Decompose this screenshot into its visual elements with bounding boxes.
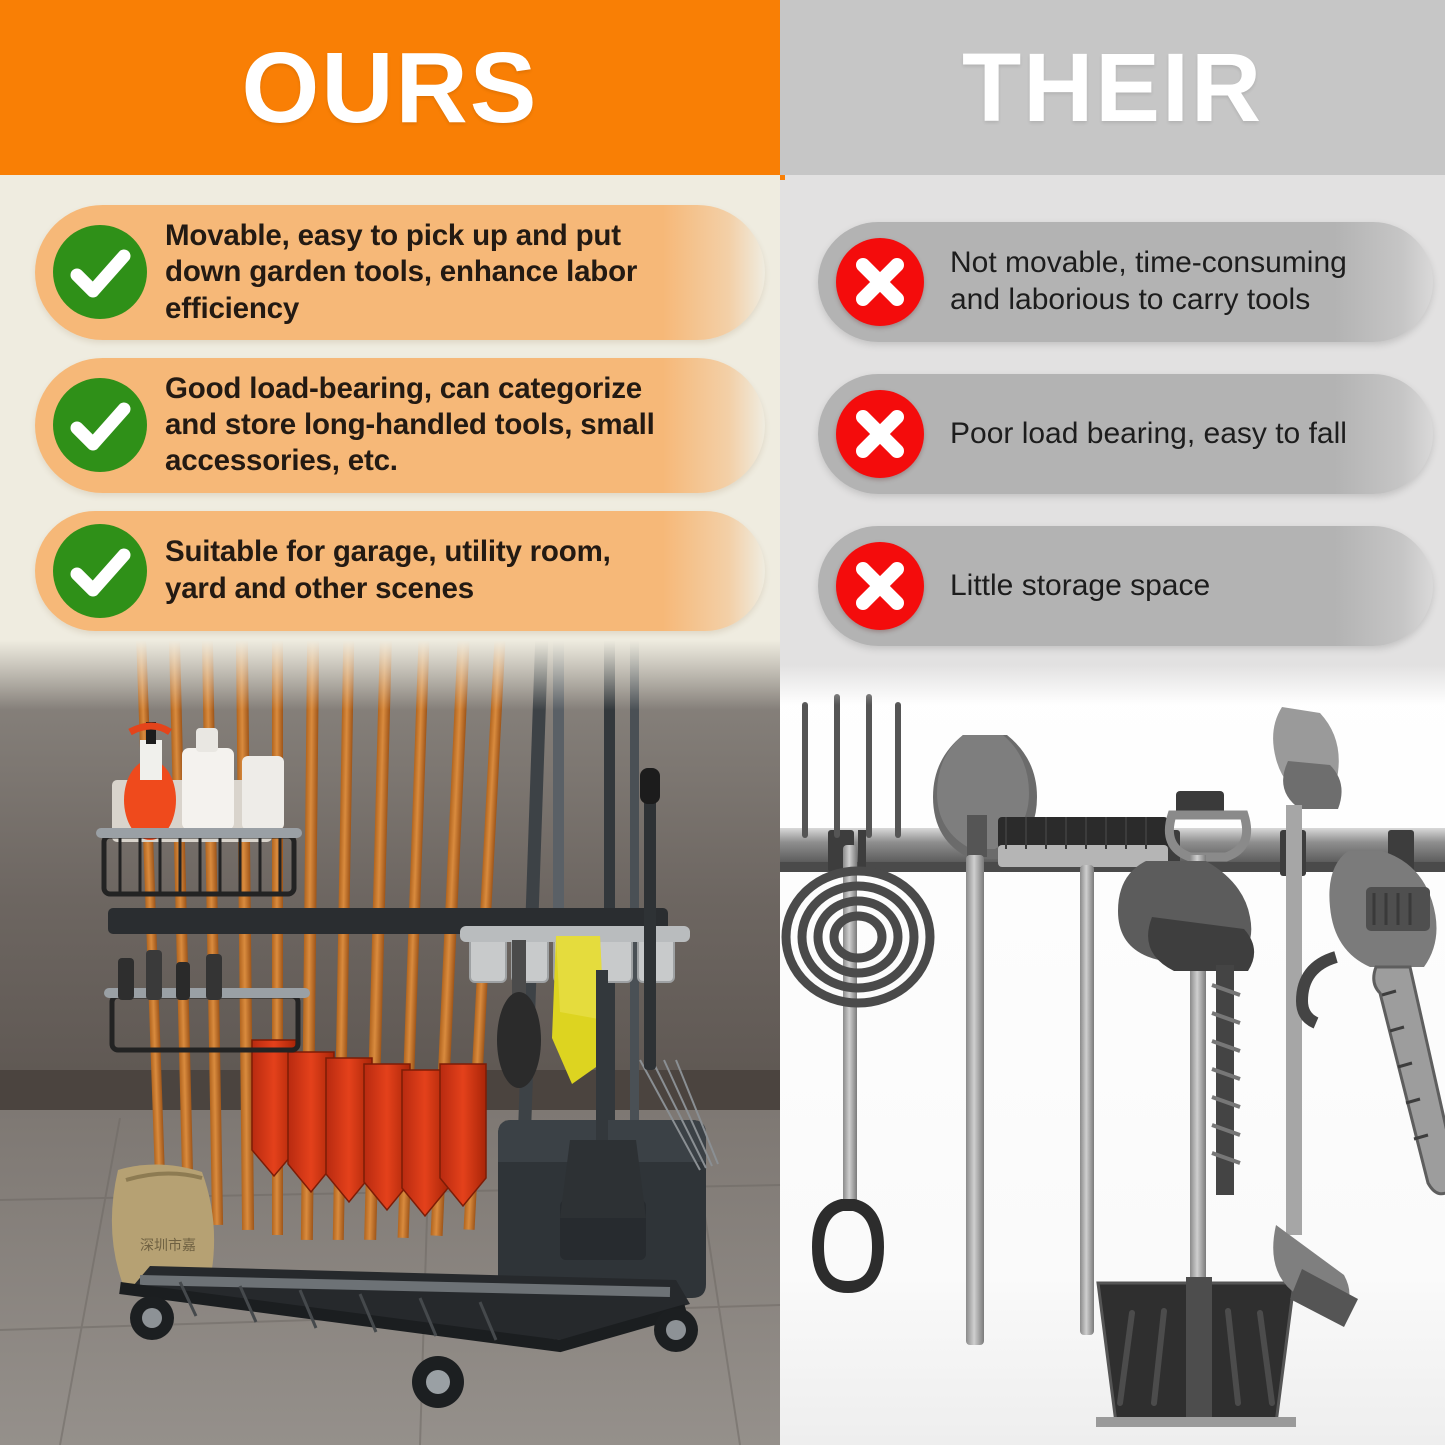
their-feature-list: Not movable, time-consuming and laboriou… (818, 222, 1445, 678)
ours-panel: OURS Movable, easy to pick up and put do… (0, 0, 780, 1445)
their-feature-label: Not movable, time-consuming and laboriou… (950, 245, 1347, 318)
check-icon (53, 225, 147, 319)
cross-icon (836, 238, 924, 326)
ours-product-photo: 深圳市嘉 (0, 640, 780, 1445)
their-header-title: THEIR (962, 39, 1263, 136)
check-icon (53, 524, 147, 618)
ours-header: OURS (0, 0, 780, 175)
their-product-photo (780, 665, 1445, 1445)
photo-fade-overlay (0, 640, 780, 710)
ours-feature-label: Suitable for garage, utility room, yard … (165, 534, 611, 607)
their-feature-item: Poor load bearing, easy to fall (818, 374, 1433, 494)
their-panel: THEIR Not movable, time-consuming and la… (780, 0, 1445, 1445)
their-feature-label: Little storage space (950, 568, 1210, 605)
their-header: THEIR (780, 0, 1445, 175)
ours-feature-label: Movable, easy to pick up and put down ga… (165, 218, 637, 327)
check-icon (53, 378, 147, 472)
their-feature-item: Little storage space (818, 526, 1433, 646)
ours-feature-item: Good load-bearing, can categorize and st… (35, 358, 765, 493)
comparison-infographic: OURS Movable, easy to pick up and put do… (0, 0, 1445, 1445)
ours-feature-item: Movable, easy to pick up and put down ga… (35, 205, 765, 340)
svg-text:深圳市嘉: 深圳市嘉 (140, 1237, 196, 1254)
their-feature-item: Not movable, time-consuming and laboriou… (818, 222, 1433, 342)
ours-feature-label: Good load-bearing, can categorize and st… (165, 371, 655, 480)
ours-feature-list: Movable, easy to pick up and put down ga… (35, 205, 780, 649)
ours-header-title: OURS (242, 38, 539, 138)
photo-fade-overlay (780, 665, 1445, 705)
their-feature-label: Poor load bearing, easy to fall (950, 416, 1347, 453)
cross-icon (836, 390, 924, 478)
cross-icon (836, 542, 924, 630)
ours-feature-item: Suitable for garage, utility room, yard … (35, 511, 765, 631)
